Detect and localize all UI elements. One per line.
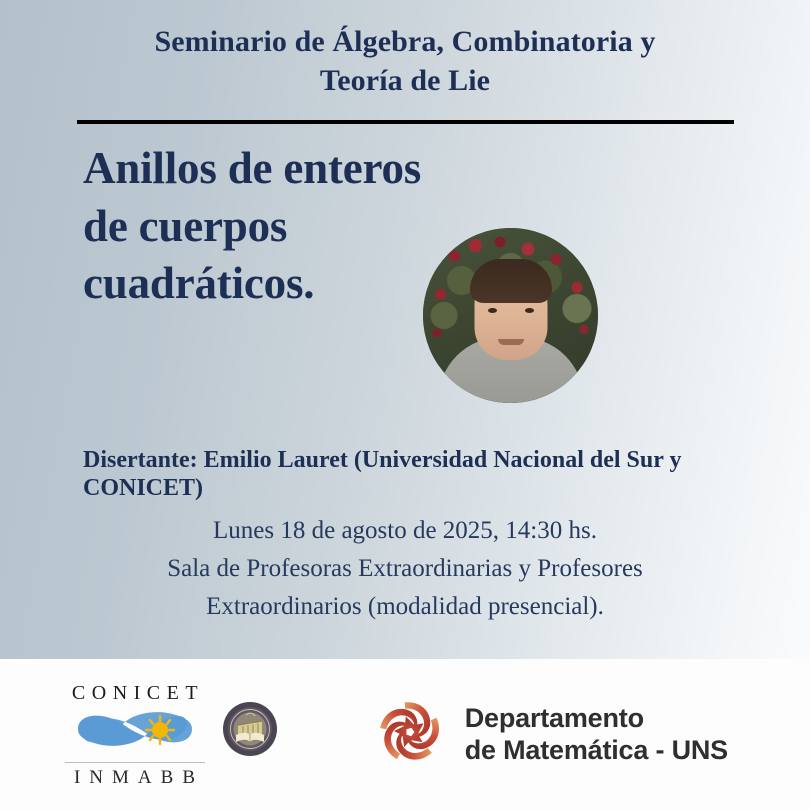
depto-matematica-text: Departamento de Matemática - UNS bbox=[465, 703, 728, 766]
uns-pinwheel-icon bbox=[371, 693, 449, 776]
talk-title-line1: Anillos de enteros bbox=[83, 140, 503, 198]
portrait-hair bbox=[470, 259, 552, 303]
event-venue-line2: Extraordinarios (modalidad presencial). bbox=[65, 588, 745, 626]
conicet-separator bbox=[65, 762, 205, 763]
event-datetime: Lunes 18 de agosto de 2025, 14:30 hs. bbox=[65, 512, 745, 550]
header-divider bbox=[77, 120, 734, 124]
conicet-inmabb-logo: CONICET bbox=[60, 683, 278, 787]
depto-text-line2: de Matemática - UNS bbox=[465, 735, 728, 766]
conicet-mark: CONICET bbox=[60, 683, 210, 787]
seminar-poster: Seminario de Álgebra, Combinatoria y Teo… bbox=[0, 0, 810, 810]
depto-matematica-uns-logo: Departamento de Matemática - UNS bbox=[371, 693, 750, 776]
conicet-infinity-icon bbox=[68, 705, 202, 758]
conicet-wordmark: CONICET bbox=[66, 683, 204, 703]
poster-footer: CONICET bbox=[0, 659, 810, 810]
event-venue-line1: Sala de Profesoras Extraordinarias y Pro… bbox=[65, 550, 745, 588]
speaker-portrait bbox=[423, 228, 598, 403]
portrait-eye-right bbox=[525, 308, 534, 313]
footer-logo-row: CONICET bbox=[0, 683, 810, 787]
conicet-sun bbox=[146, 716, 174, 744]
inmabb-wordmark: INMABB bbox=[66, 768, 204, 787]
seminar-series-title: Seminario de Álgebra, Combinatoria y Teo… bbox=[70, 22, 740, 100]
seminar-series-title-line2: Teoría de Lie bbox=[70, 61, 740, 100]
speaker-name: Disertante: Emilio Lauret (Universidad N… bbox=[83, 447, 723, 503]
event-details: Lunes 18 de agosto de 2025, 14:30 hs. Sa… bbox=[65, 512, 745, 626]
seminar-series-title-line1: Seminario de Álgebra, Combinatoria y bbox=[70, 22, 740, 61]
depto-text-line1: Departamento bbox=[465, 703, 728, 734]
portrait-mouth bbox=[498, 339, 524, 345]
university-seal-icon bbox=[222, 701, 278, 762]
portrait-eye-left bbox=[488, 308, 497, 313]
